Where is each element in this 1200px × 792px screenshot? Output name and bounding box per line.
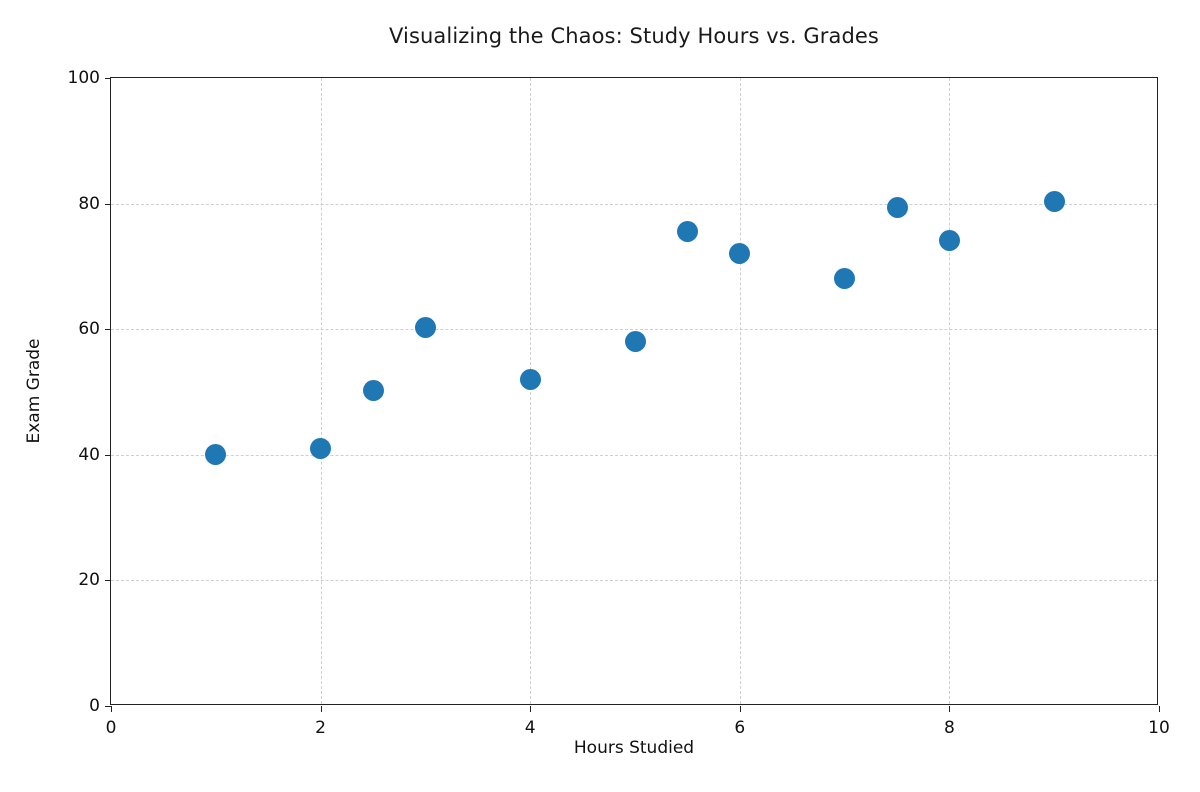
data-points-layer <box>111 78 1157 704</box>
scatter-point <box>625 331 646 352</box>
scatter-point <box>1044 191 1065 212</box>
y-tick-label: 60 <box>78 319 100 339</box>
y-tick-label: 80 <box>78 194 100 214</box>
x-tick-label: 6 <box>734 718 745 738</box>
y-tick-label: 0 <box>89 696 100 716</box>
plot-area: 0204060801000246810 <box>110 77 1158 705</box>
x-tick-mark <box>321 706 322 712</box>
x-tick-mark <box>111 706 112 712</box>
y-tick-label: 100 <box>68 68 100 88</box>
y-tick-label: 40 <box>78 445 100 465</box>
y-tick-mark <box>105 204 111 205</box>
scatter-point <box>887 197 908 218</box>
x-tick-label: 2 <box>315 718 326 738</box>
y-axis-label: Exam Grade <box>24 77 44 705</box>
x-tick-mark <box>949 706 950 712</box>
scatter-point <box>834 268 855 289</box>
scatter-point <box>310 438 331 459</box>
x-tick-mark <box>530 706 531 712</box>
x-tick-label: 0 <box>106 718 117 738</box>
scatter-point <box>677 221 698 242</box>
x-tick-label: 4 <box>525 718 536 738</box>
y-tick-label: 20 <box>78 570 100 590</box>
x-tick-label: 10 <box>1148 718 1170 738</box>
figure-canvas: Visualizing the Chaos: Study Hours vs. G… <box>0 0 1200 792</box>
scatter-point <box>729 243 750 264</box>
y-tick-mark <box>105 329 111 330</box>
x-axis-label: Hours Studied <box>110 738 1158 758</box>
scatter-point <box>939 230 960 251</box>
chart-title: Visualizing the Chaos: Study Hours vs. G… <box>110 24 1158 48</box>
scatter-point <box>205 444 226 465</box>
x-tick-label: 8 <box>944 718 955 738</box>
scatter-point <box>520 369 541 390</box>
scatter-point <box>415 317 436 338</box>
y-tick-mark <box>105 580 111 581</box>
y-tick-mark <box>105 455 111 456</box>
x-tick-mark <box>1159 706 1160 712</box>
y-tick-mark <box>105 78 111 79</box>
x-tick-mark <box>740 706 741 712</box>
scatter-point <box>363 380 384 401</box>
